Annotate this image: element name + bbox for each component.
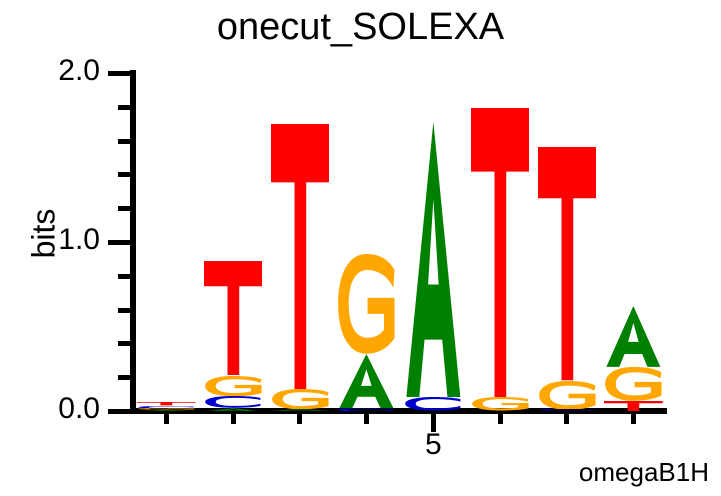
logo-letter-G-pos8	[604, 367, 663, 401]
logo-stack-1	[137, 0, 196, 411]
logo-letter-G-pos4	[337, 254, 396, 354]
logo-letter-T-pos1	[137, 402, 196, 405]
logo-letter-C-pos7	[538, 409, 597, 411]
logo-stack-2	[204, 0, 263, 411]
logo-letter-G-pos7	[538, 381, 597, 410]
logo-stacks	[0, 0, 721, 496]
logo-stack-8	[604, 0, 663, 411]
logo-letter-C-pos4	[337, 408, 396, 411]
logo-stack-7	[538, 0, 597, 411]
logo-letter-A-pos4	[337, 354, 396, 408]
logo-letter-G-pos6	[471, 397, 530, 411]
logo-letter-C-pos5	[404, 397, 463, 411]
logo-letter-T-pos3	[271, 124, 330, 389]
logo-letter-C-pos2	[204, 396, 263, 408]
logo-letter-A-pos8	[604, 306, 663, 367]
logo-letter-C-pos1	[137, 406, 196, 409]
logo-stack-4	[337, 0, 396, 411]
logo-letter-A-pos2	[204, 408, 263, 411]
logo-letter-A-pos1	[137, 410, 196, 411]
logo-letter-G-pos2	[204, 376, 263, 396]
logo-letter-T-pos2	[204, 261, 263, 376]
logo-letter-A-pos3	[271, 409, 330, 411]
logo-stack-3	[271, 0, 330, 411]
footer-label: omegaB1H	[579, 457, 709, 488]
logo-letter-G-pos3	[271, 389, 330, 409]
logo-letter-T-pos6	[471, 108, 530, 397]
logo-letter-A-pos5	[404, 122, 463, 397]
logo-letter-T-pos7	[538, 147, 597, 380]
logo-stack-5	[404, 0, 463, 411]
logo-stack-6	[471, 0, 530, 411]
logo-letter-G-pos1	[137, 408, 196, 410]
logo-letter-T-pos8	[604, 401, 663, 411]
sequence-logo-figure: onecut_SOLEXA bits 2.01.00.0 5 omegaB1H	[0, 0, 721, 496]
